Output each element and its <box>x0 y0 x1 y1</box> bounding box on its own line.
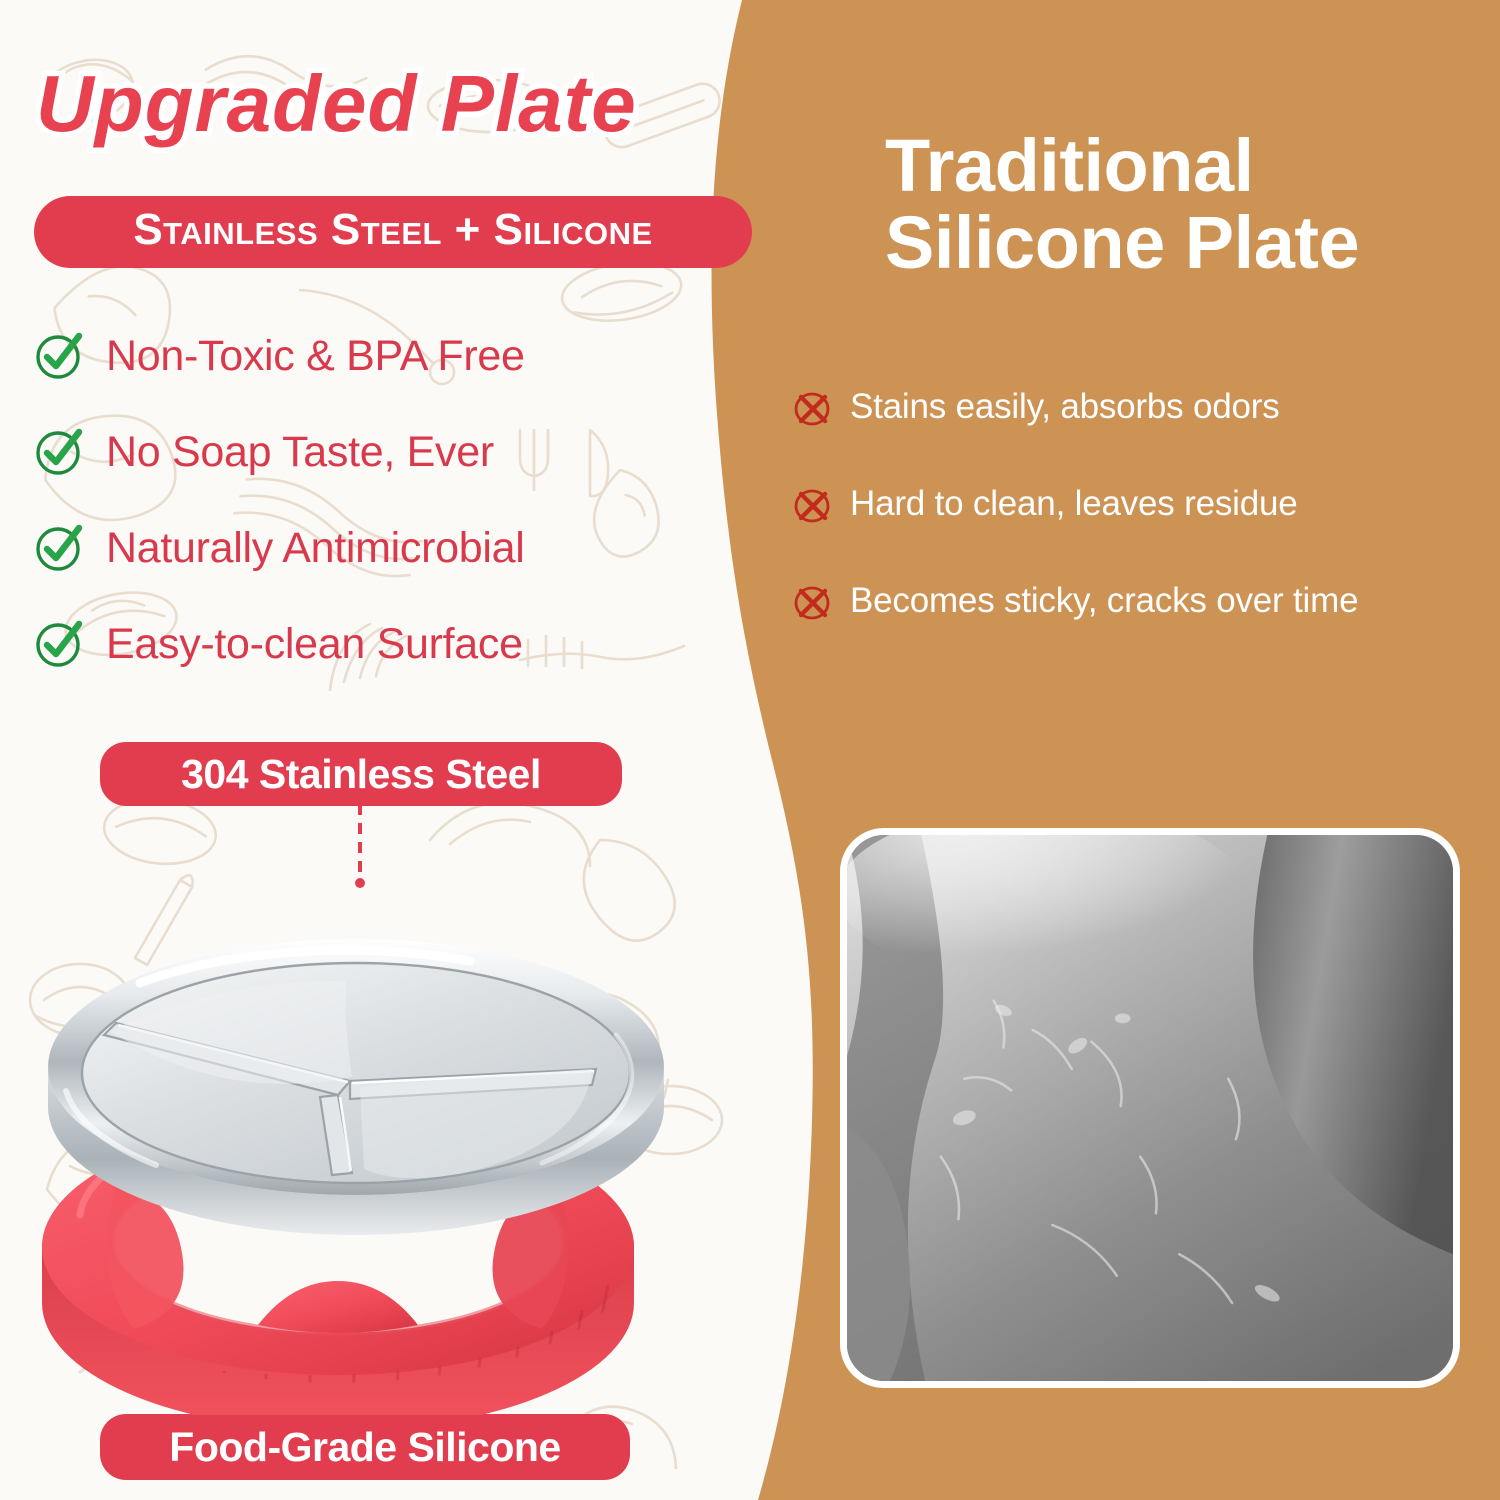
material-badge: Stainless Steel + Silicone <box>34 196 752 268</box>
right-panel-title: Traditional Silicone Plate <box>885 128 1359 282</box>
list-item: Becomes sticky, cracks over time <box>792 552 1492 649</box>
stainless-steel-divided-plate <box>48 939 664 1235</box>
con-label: Hard to clean, leaves residue <box>850 484 1298 524</box>
upgraded-plate-column: Upgraded Plate Upgraded Plate Stainless … <box>0 0 760 1500</box>
list-item: Easy-to-clean Surface <box>34 596 734 692</box>
con-label: Becomes sticky, cracks over time <box>850 581 1358 621</box>
worn-silicone-photo <box>840 828 1460 1388</box>
cross-circle-icon <box>792 483 834 525</box>
list-item: Non-Toxic & BPA Free <box>34 308 734 404</box>
material-badge-label: Stainless Steel + Silicone <box>133 208 652 256</box>
check-circle-icon <box>34 427 84 477</box>
infographic-canvas: Upgraded Plate Upgraded Plate Stainless … <box>0 0 1500 1500</box>
list-item: Hard to clean, leaves residue <box>792 455 1492 552</box>
list-item: No Soap Taste, Ever <box>34 404 734 500</box>
cross-circle-icon <box>792 386 834 428</box>
list-item: Naturally Antimicrobial <box>34 500 734 596</box>
product-image-steel-plate-with-silicone-base <box>20 855 720 1415</box>
callout-label: 304 Stainless Steel <box>181 751 541 798</box>
check-circle-icon <box>34 619 84 669</box>
check-circle-icon <box>34 523 84 573</box>
cross-circle-icon <box>792 580 834 622</box>
pro-label: Naturally Antimicrobial <box>106 524 524 573</box>
callout-food-grade-silicone: Food-Grade Silicone <box>100 1414 630 1480</box>
list-item: Stains easily, absorbs odors <box>792 358 1492 455</box>
pro-label: Non-Toxic & BPA Free <box>106 332 525 381</box>
pros-list: Non-Toxic & BPA Free No Soap Taste, Ever… <box>34 308 734 692</box>
pro-label: Easy-to-clean Surface <box>106 620 523 669</box>
page-title: Upgraded Plate <box>36 58 637 150</box>
right-title-line-1: Traditional <box>885 128 1359 205</box>
pro-label: No Soap Taste, Ever <box>106 428 494 477</box>
con-label: Stains easily, absorbs odors <box>850 387 1280 427</box>
callout-304-stainless-steel: 304 Stainless Steel <box>100 742 622 806</box>
right-title-line-2: Silicone Plate <box>885 205 1359 282</box>
callout-label: Food-Grade Silicone <box>169 1424 560 1471</box>
cons-list: Stains easily, absorbs odors Hard to cle… <box>792 358 1492 649</box>
check-circle-icon <box>34 331 84 381</box>
